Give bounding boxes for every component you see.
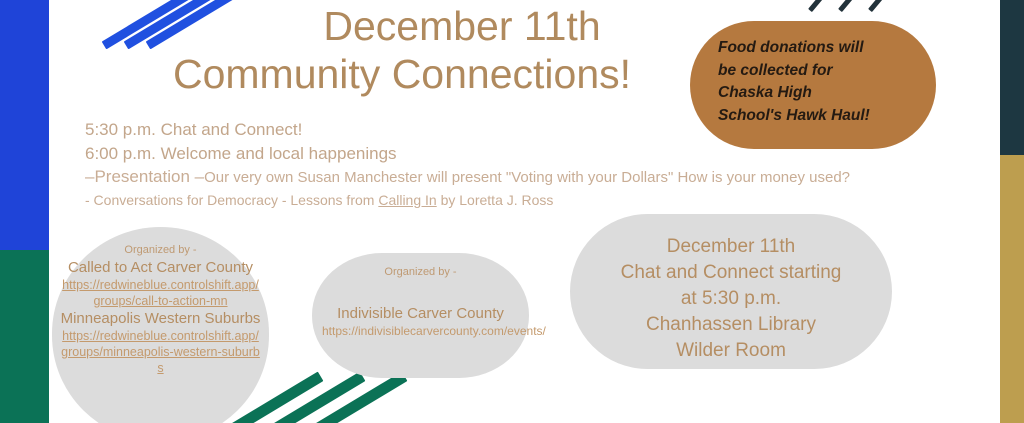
dark-diagonal-stripes-icon [800,0,970,18]
right-edge-white-trim [996,0,1000,423]
organizer-url-indivisible-carver-county[interactable]: https://indivisiblecarvercounty.com/even… [312,324,529,339]
food-donation-callout: Food donations will be collected for Cha… [690,21,936,149]
conversations-prefix: - Conversations for Democracy - Lessons … [85,192,378,208]
organizer-bubble-left: Organized by - Called to Act Carver Coun… [52,227,269,423]
conversations-suffix: by Loretta J. Ross [437,192,554,208]
schedule-line-3: –Presentation –Our very own Susan Manche… [85,166,875,189]
left-edge-green-segment [0,250,55,423]
title-line-event: Community Connections! [112,50,692,98]
organized-by-label: Organized by - [312,265,529,280]
presentation-description: Our very own Susan Manchester will prese… [204,169,850,186]
organizer-name-indivisible-carver-county: Indivisible Carver County [312,304,529,324]
schedule-line-4: - Conversations for Democracy - Lessons … [85,189,875,211]
event-detail-venue: Chanhassen Library [570,312,892,338]
organizer-url-minneapolis-western-suburbs[interactable]: https://redwineblue.controlshift.app/gro… [52,328,269,376]
organizer-name-called-to-act: Called to Act Carver County [52,258,269,277]
event-flyer: December 11th Community Connections! 5:3… [0,0,1024,423]
organizer-url-called-to-act[interactable]: https://redwineblue.controlshift.app/gro… [52,277,269,309]
event-detail-activity: Chat and Connect starting [570,260,892,286]
stripe-bar [868,0,939,12]
right-edge-bar [996,0,1024,423]
left-edge-bar [0,0,55,423]
food-donation-line-1: Food donations will [718,37,936,60]
food-donation-line-4: School's Hawk Haul! [718,105,936,128]
right-edge-teal-segment [996,0,1024,160]
food-donation-line-2: be collected for [718,60,936,83]
organizer-name-minneapolis-western-suburbs: Minneapolis Western Suburbs [52,309,269,328]
title-line-date: December 11th [112,2,692,50]
right-edge-gold-segment [996,155,1024,423]
left-edge-blue-segment [0,0,55,256]
page-title: December 11th Community Connections! [112,2,692,98]
organized-by-label: Organized by - [52,243,269,258]
event-detail-room: Wilder Room [570,338,892,364]
organizer-bubble-middle: Organized by - Indivisible Carver County… [312,253,529,378]
event-detail-date: December 11th [570,234,892,260]
food-donation-line-3: Chaska High [718,82,936,105]
event-detail-time: at 5:30 p.m. [570,286,892,312]
book-title-link[interactable]: Calling In [378,192,436,208]
event-details-bubble: December 11th Chat and Connect starting … [570,214,892,369]
presentation-label: –Presentation – [85,167,204,186]
